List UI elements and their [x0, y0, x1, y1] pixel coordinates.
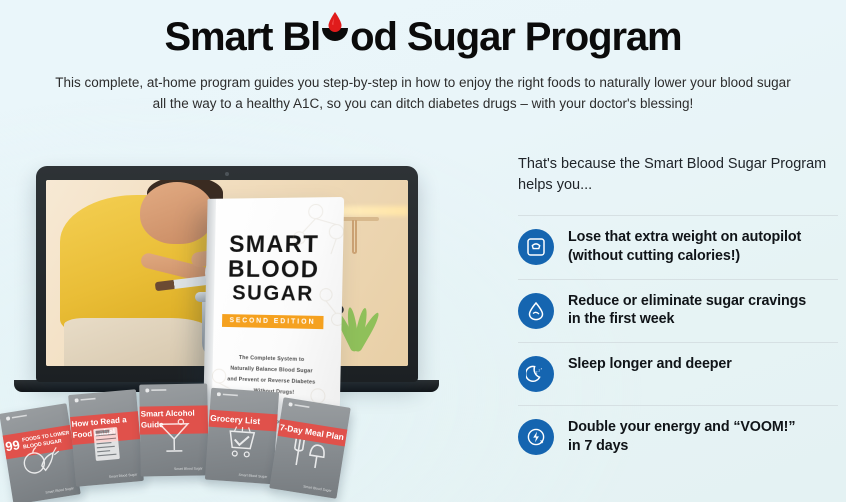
bonus-card-grocery-list[interactable]: Grocery List Smart Blood Sugar: [205, 388, 279, 485]
moon-sleep-glyph: z z z: [526, 364, 546, 384]
svg-text:z: z: [536, 370, 538, 375]
shopping-cart-check-icon: [224, 424, 260, 458]
benefit-text: Double your energy and “VOOM!” in 7 days: [568, 418, 795, 456]
bonus-card-foot: Smart Blood Sugar: [238, 473, 267, 479]
benefit-item-cravings: Reduce or eliminate sugar cravings in th…: [518, 279, 838, 343]
brand-logo-icon: [6, 413, 28, 420]
apple-carrot-icon: [19, 442, 63, 478]
blood-drop-icon: [320, 10, 350, 50]
person-head: [140, 182, 214, 244]
benefit-line2: in the first week: [568, 310, 806, 329]
moon-sleep-icon: z z z: [518, 356, 554, 392]
page-subtitle-line1: This complete, at-home program guides yo…: [11, 73, 835, 94]
cutlery-icon: [288, 436, 330, 472]
lightning-energy-glyph: [526, 427, 546, 447]
bonus-card-alcohol-guide[interactable]: Smart Alcohol Guide Smart Blood Sugar: [139, 383, 209, 476]
person-pants: [64, 318, 209, 366]
cocktail-glass-icon: [157, 417, 192, 454]
benefit-line1: Reduce or eliminate sugar cravings: [568, 292, 806, 311]
product-image-group: SMART BLOOD SUGAR SECOND EDITION The Com…: [0, 140, 505, 502]
water-drop-icon: [518, 293, 554, 329]
brand-logo-icon: [217, 392, 239, 398]
bonus-card-meal-plan[interactable]: 7-Day Meal Plan Smart Blood Sugar: [269, 397, 351, 499]
benefit-line2: in 7 days: [568, 437, 795, 456]
benefit-line1: Sleep longer and deeper: [568, 355, 732, 374]
benefit-line2: (without cutting calories!): [568, 247, 801, 266]
bonus-card-99-foods[interactable]: 99 FOODS TO LOWER BLOOD SUGAR Smart Bloo…: [0, 403, 81, 502]
brand-logo-icon: [74, 397, 96, 403]
benefit-text: Reduce or eliminate sugar cravings in th…: [568, 292, 806, 330]
page-title-part1: Smart Bl: [164, 15, 320, 59]
brand-logo-icon: [145, 388, 167, 392]
bonus-card-foot: Smart Blood Sugar: [303, 484, 332, 492]
bonus-card-foot: Smart Blood Sugar: [109, 472, 138, 478]
page-title: Smart Bl od Sugar Program: [0, 0, 846, 60]
page-title-part2: od Sugar Program: [350, 15, 681, 59]
nutrition-label-icon: [92, 425, 121, 461]
benefits-lead-text: That's because the Smart Blood Sugar Pro…: [518, 154, 838, 197]
lightning-energy-icon: [518, 419, 554, 455]
benefit-line1: Double your energy and “VOOM!”: [568, 418, 795, 437]
benefits-panel: That's because the Smart Blood Sugar Pro…: [518, 154, 838, 469]
landing-page: Smart Bl od Sugar Program This complete,…: [0, 0, 846, 502]
brand-logo-icon: [288, 402, 310, 409]
bonus-card-food-label[interactable]: How to Read a Food Label Smart Blood Sug…: [68, 389, 144, 487]
bonus-card-foot: Smart Blood Sugar: [174, 467, 203, 471]
bonus-card-foot: Smart Blood Sugar: [45, 486, 74, 494]
benefit-text: Sleep longer and deeper: [568, 355, 732, 374]
benefit-line1: Lose that extra weight on autopilot: [568, 228, 801, 247]
svg-text:z: z: [541, 367, 543, 371]
bonus-cards-group: 99 FOODS TO LOWER BLOOD SUGAR Smart Bloo…: [0, 386, 360, 502]
page-subtitle: This complete, at-home program guides yo…: [11, 73, 835, 115]
weight-scale-glyph: [526, 237, 546, 257]
blood-drop-glyph: [328, 12, 342, 32]
water-drop-glyph: [526, 301, 546, 321]
benefit-text: Lose that extra weight on autopilot (wit…: [568, 228, 801, 266]
benefit-item-sleep: z z z Sleep longer and deeper: [518, 342, 838, 405]
page-subtitle-line2: all the way to a healthy A1C, so you can…: [11, 94, 835, 115]
benefit-item-energy: Double your energy and “VOOM!” in 7 days: [518, 405, 838, 469]
webcam-icon: [225, 172, 229, 176]
content-area: SMART BLOOD SUGAR SECOND EDITION The Com…: [0, 140, 846, 502]
weight-scale-icon: [518, 229, 554, 265]
benefit-item-weight: Lose that extra weight on autopilot (wit…: [518, 215, 838, 279]
